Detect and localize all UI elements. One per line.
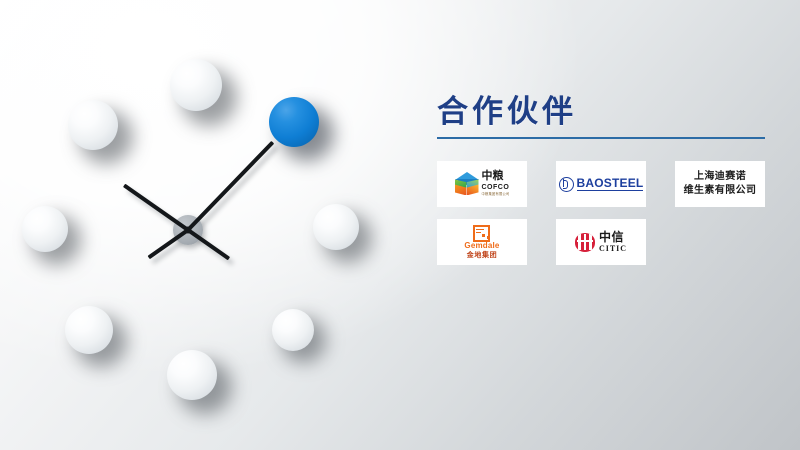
partner-logo-placeholder [675, 219, 765, 265]
clock-hands-layer [0, 0, 400, 450]
partners-section: 合作伙伴 中粮 COFCO 中粮集 [437, 92, 767, 265]
title-underline-rule [437, 137, 765, 139]
baosteel-emblem-icon [559, 177, 574, 192]
partner-logo-gemdale[interactable]: Gemdale 金地集团 [437, 219, 527, 265]
desano-lockup: 上海迪赛诺 维生素有限公司 [684, 170, 757, 198]
gemdale-name-cn: 金地集团 [464, 252, 499, 259]
desano-name-line2: 维生素有限公司 [684, 184, 757, 198]
cofco-text-block: 中粮 COFCO 中粮集团有限公司 [482, 171, 510, 196]
clock-illustration [0, 0, 400, 450]
partner-logo-desano[interactable]: 上海迪赛诺 维生素有限公司 [675, 161, 765, 207]
minute-hand-shadow [191, 146, 279, 237]
citic-name-en: CITIC [599, 245, 627, 253]
baosteel-name-en: BAOSTEEL [577, 177, 644, 191]
partner-logo-grid: 中粮 COFCO 中粮集团有限公司 BAOSTEEL 上海迪赛诺 维生素有限公司 [437, 161, 767, 265]
cofco-name-en: COFCO [482, 184, 510, 191]
citic-name-cn: 中信 [599, 231, 627, 243]
citic-text-block: 中信 CITIC [599, 231, 627, 253]
citic-mark-icon [575, 233, 595, 252]
gemdale-lockup: Gemdale 金地集团 [464, 225, 499, 259]
clock-hub-cap [185, 227, 192, 234]
desano-name-line1: 上海迪赛诺 [684, 170, 757, 184]
cofco-name-cn: 中粮 [482, 171, 510, 182]
clock-hour-hand [123, 184, 189, 232]
clock-minute-hand [187, 141, 275, 232]
gemdale-name-en: Gemdale [464, 242, 499, 250]
gemdale-mark-icon [473, 225, 490, 240]
partner-logo-cofco[interactable]: 中粮 COFCO 中粮集团有限公司 [437, 161, 527, 207]
partner-logo-baosteel[interactable]: BAOSTEEL [556, 161, 646, 207]
partner-logo-citic[interactable]: 中信 CITIC [556, 219, 646, 265]
cofco-lockup: 中粮 COFCO 中粮集团有限公司 [455, 171, 510, 196]
clock-second-hand-tail [187, 228, 230, 260]
page-title: 合作伙伴 [437, 92, 767, 132]
citic-lockup: 中信 CITIC [575, 231, 627, 253]
cofco-tagline: 中粮集团有限公司 [482, 193, 510, 196]
baosteel-lockup: BAOSTEEL [559, 177, 644, 192]
presentation-slide: 合作伙伴 中粮 COFCO 中粮集 [0, 0, 800, 450]
cofco-cube-icon [455, 171, 479, 196]
